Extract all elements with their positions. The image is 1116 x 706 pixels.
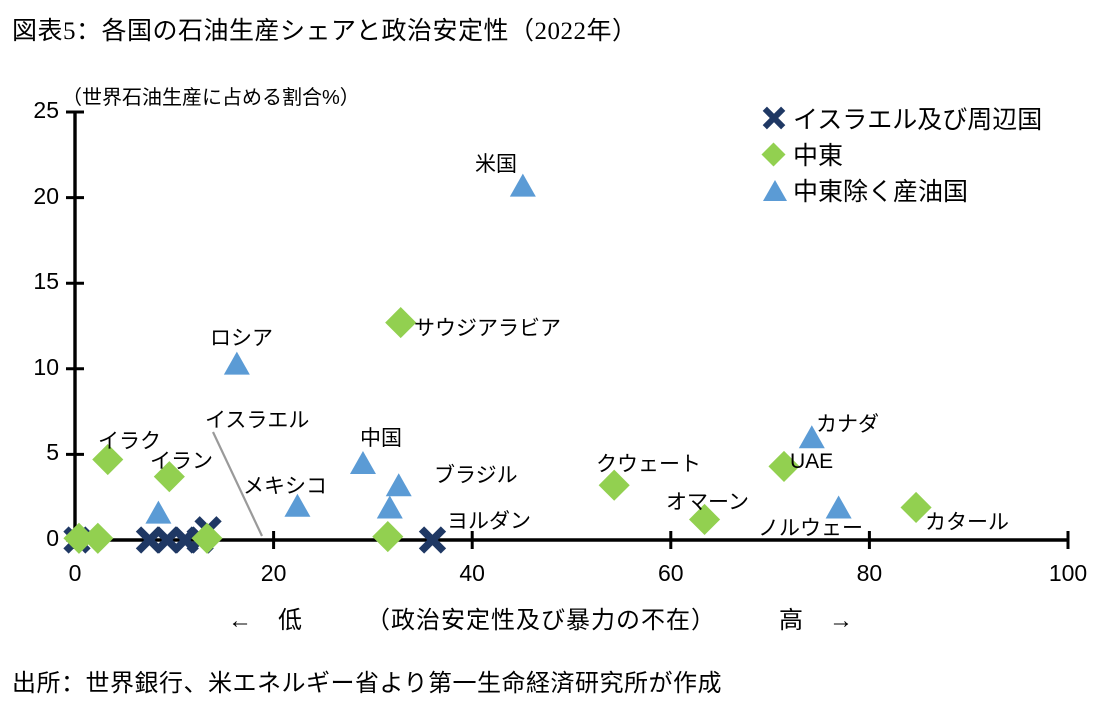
- point-label: クウェート: [596, 448, 701, 478]
- x-marker-icon: [760, 103, 790, 133]
- x-axis-label: ← 低 （政治安定性及び暴力の不在） 高 →: [228, 600, 854, 635]
- point-label: カナダ: [816, 408, 879, 438]
- legend-label: イスラエル及び周辺国: [793, 100, 1042, 136]
- legend-label: 中東除く産油国: [793, 172, 968, 208]
- point-label: ヨルダン: [447, 505, 531, 535]
- point-label: 米国: [475, 148, 517, 178]
- chart-legend: イスラエル及び周辺国 中東 中東除く産油国: [760, 100, 1042, 208]
- point-label: イラン: [150, 445, 213, 475]
- diamond-marker-icon: [760, 139, 790, 169]
- triangle-marker-icon: [760, 175, 790, 205]
- point-label: オマーン: [666, 486, 749, 516]
- point-label: カタール: [925, 506, 1009, 536]
- legend-item-middle-east[interactable]: 中東: [760, 136, 1042, 172]
- legend-item-israel[interactable]: イスラエル及び周辺国: [760, 100, 1042, 136]
- figure-container: 図表5：各国の石油生産シェアと政治安定性（2022年） （世界石油生産に占める割…: [0, 0, 1116, 706]
- point-label: UAE: [790, 450, 833, 474]
- point-label: サウジアラビア: [414, 312, 561, 342]
- source-note: 出所：世界銀行、米エネルギー省より第一生命経済研究所が作成: [12, 663, 722, 698]
- legend-label: 中東: [793, 136, 843, 172]
- point-label: 中国: [360, 422, 402, 452]
- point-label: ノルウェー: [758, 512, 863, 542]
- point-label: メキシコ: [243, 470, 327, 500]
- point-label: イスラエル: [205, 404, 309, 434]
- point-label: ブラジル: [434, 459, 518, 489]
- point-label: ロシア: [210, 322, 273, 352]
- legend-item-other-producers[interactable]: 中東除く産油国: [760, 172, 1042, 208]
